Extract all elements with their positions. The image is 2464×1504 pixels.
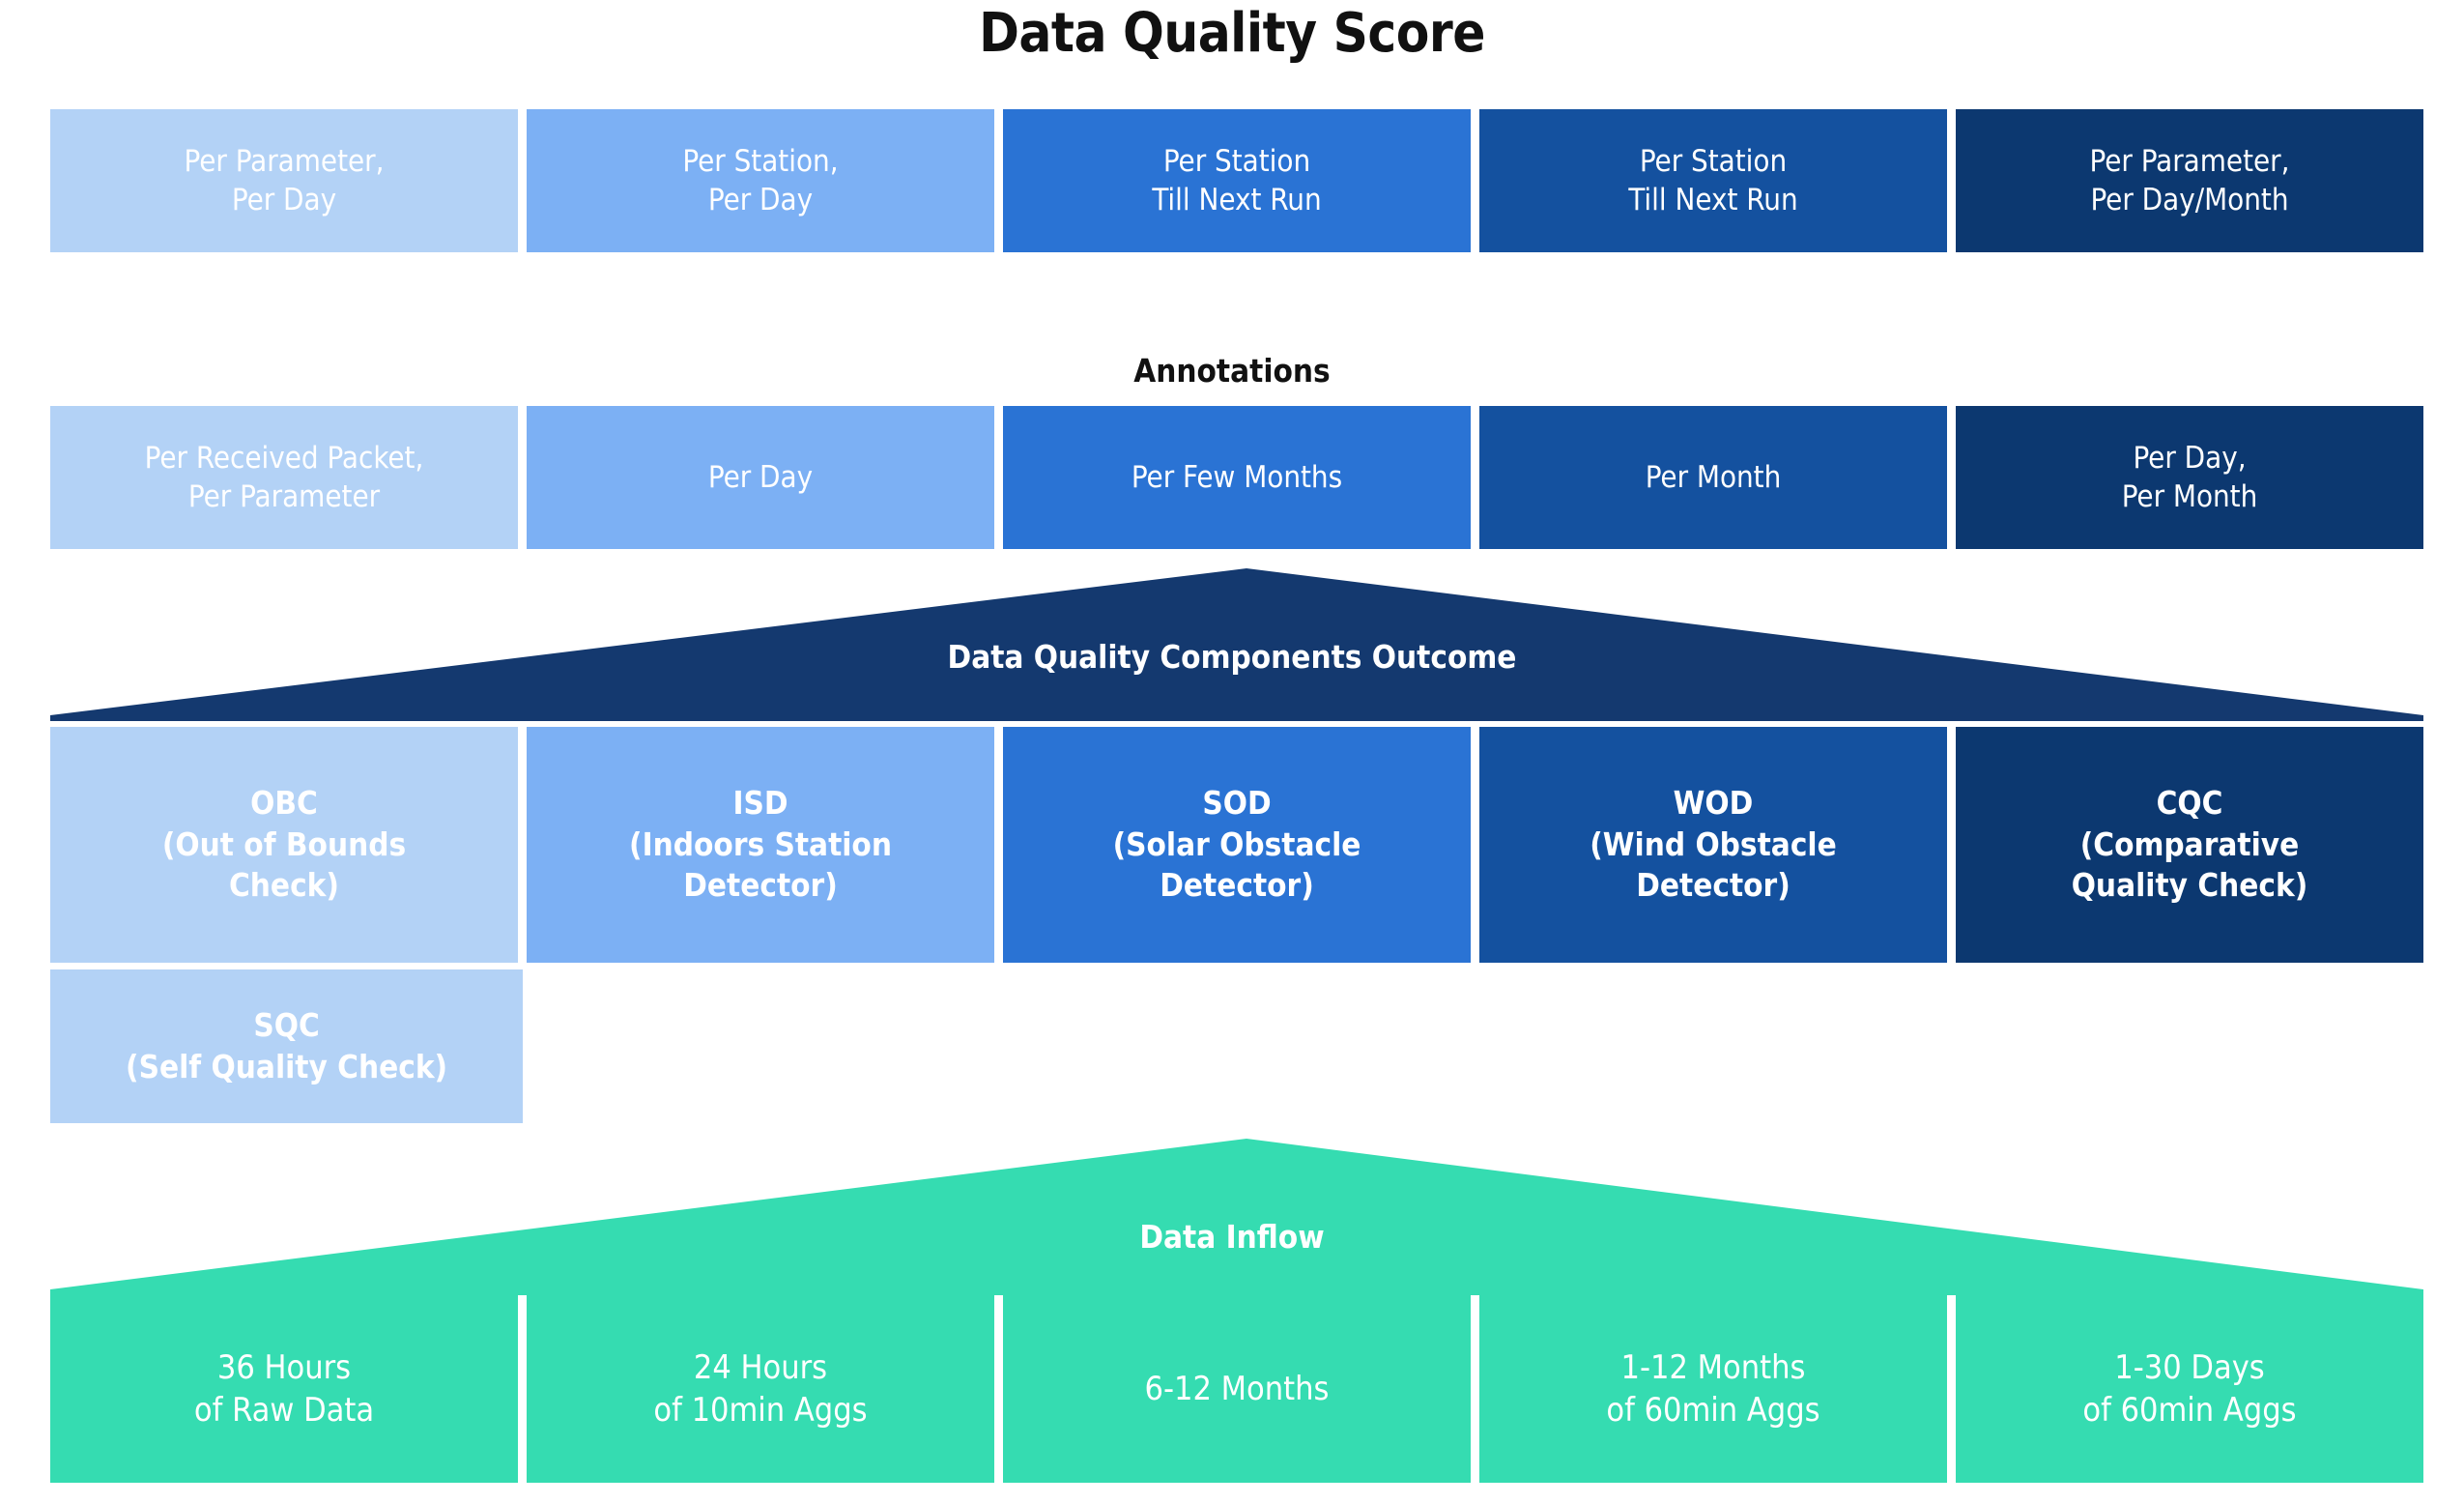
annotations-cell-5-line-1: Per Day, xyxy=(1956,439,2423,477)
annotations-cell-5[interactable]: Per Day, Per Month xyxy=(1956,406,2423,549)
component-sod-line-1: SOD xyxy=(1003,783,1471,824)
annotations-cell-1-line-1: Per Received Packet, xyxy=(50,439,518,477)
inflow-cell-2[interactable]: 24 Hours of 10min Aggs xyxy=(527,1295,994,1483)
inflow-cell-2-line-2: of 10min Aggs xyxy=(527,1389,994,1432)
score-cell-1-line-2: Per Day xyxy=(50,181,518,219)
score-cell-5[interactable]: Per Parameter, Per Day/Month xyxy=(1956,109,2423,252)
diagram-canvas: Data Quality Score Per Parameter, Per Da… xyxy=(0,0,2464,1504)
component-cell-cqc[interactable]: CQC (Comparative Quality Check) xyxy=(1956,727,2423,963)
annotations-cell-3[interactable]: Per Few Months xyxy=(1003,406,1471,549)
inflow-cell-4[interactable]: 1-12 Months of 60min Aggs xyxy=(1479,1295,1947,1483)
inflow-cell-3[interactable]: 6-12 Months xyxy=(1003,1295,1471,1483)
component-cell-wod[interactable]: WOD (Wind Obstacle Detector) xyxy=(1479,727,1947,963)
score-cell-3-line-1: Per Station xyxy=(1003,142,1471,181)
inflow-banner-label: Data Inflow xyxy=(0,1218,2464,1256)
score-cell-5-line-2: Per Day/Month xyxy=(1956,181,2423,219)
component-cqc-line-2: (Comparative xyxy=(1956,824,2423,866)
score-cell-3[interactable]: Per Station Till Next Run xyxy=(1003,109,1471,252)
component-obc-line-1: OBC xyxy=(50,783,518,824)
components-row: OBC (Out of Bounds Check) ISD (Indoors S… xyxy=(50,727,2423,963)
inflow-cell-5-line-1: 1-30 Days xyxy=(1956,1346,2423,1389)
page-title: Data Quality Score xyxy=(0,2,2464,65)
inflow-cell-1[interactable]: 36 Hours of Raw Data xyxy=(50,1295,518,1483)
annotations-cell-4[interactable]: Per Month xyxy=(1479,406,1947,549)
inflow-cell-1-line-2: of Raw Data xyxy=(50,1389,518,1432)
annotations-cell-5-line-2: Per Month xyxy=(1956,477,2423,516)
inflow-cell-4-line-1: 1-12 Months xyxy=(1479,1346,1947,1389)
component-wod-line-1: WOD xyxy=(1479,783,1947,824)
score-cell-5-line-1: Per Parameter, xyxy=(1956,142,2423,181)
component-cell-obc[interactable]: OBC (Out of Bounds Check) xyxy=(50,727,518,963)
annotations-cell-3-line-1: Per Few Months xyxy=(1003,458,1471,497)
component-sqc-line-1: SQC xyxy=(253,1005,319,1047)
annotations-cell-2[interactable]: Per Day xyxy=(527,406,994,549)
annotations-cell-2-line-1: Per Day xyxy=(527,458,994,497)
inflow-cell-5-line-2: of 60min Aggs xyxy=(1956,1389,2423,1432)
annotations-label: Annotations xyxy=(0,352,2464,390)
component-cell-sqc[interactable]: SQC (Self Quality Check) xyxy=(50,969,523,1123)
score-cell-2[interactable]: Per Station, Per Day xyxy=(527,109,994,252)
score-cell-4[interactable]: Per Station Till Next Run xyxy=(1479,109,1947,252)
annotations-cell-1-line-2: Per Parameter xyxy=(50,477,518,516)
inflow-cell-4-line-2: of 60min Aggs xyxy=(1479,1389,1947,1432)
component-sod-line-2: (Solar Obstacle xyxy=(1003,824,1471,866)
component-obc-line-3: Check) xyxy=(50,865,518,907)
component-cell-sod[interactable]: SOD (Solar Obstacle Detector) xyxy=(1003,727,1471,963)
score-cell-2-line-1: Per Station, xyxy=(527,142,994,181)
component-obc-line-2: (Out of Bounds xyxy=(50,824,518,866)
annotations-cell-4-line-1: Per Month xyxy=(1479,458,1947,497)
inflow-banner-triangle-icon xyxy=(0,1139,2464,1295)
annotations-cell-1[interactable]: Per Received Packet, Per Parameter xyxy=(50,406,518,549)
score-cell-1-line-1: Per Parameter, xyxy=(50,142,518,181)
component-isd-line-3: Detector) xyxy=(527,865,994,907)
score-cell-4-line-2: Till Next Run xyxy=(1479,181,1947,219)
component-sqc-line-2: (Self Quality Check) xyxy=(126,1047,447,1088)
inflow-cell-1-line-1: 36 Hours xyxy=(50,1346,518,1389)
score-cell-1[interactable]: Per Parameter, Per Day xyxy=(50,109,518,252)
inflow-cell-3-line-1: 6-12 Months xyxy=(1003,1368,1471,1410)
component-wod-line-3: Detector) xyxy=(1479,865,1947,907)
annotations-row: Per Received Packet, Per Parameter Per D… xyxy=(50,406,2423,549)
inflow-cell-5[interactable]: 1-30 Days of 60min Aggs xyxy=(1956,1295,2423,1483)
components-banner-label: Data Quality Components Outcome xyxy=(0,638,2464,676)
component-cqc-line-1: CQC xyxy=(1956,783,2423,824)
component-sod-line-3: Detector) xyxy=(1003,865,1471,907)
score-granularity-row: Per Parameter, Per Day Per Station, Per … xyxy=(50,109,2423,252)
data-inflow-banner: Data Inflow xyxy=(0,1139,2464,1295)
inflow-cell-2-line-1: 24 Hours xyxy=(527,1346,994,1389)
score-cell-2-line-2: Per Day xyxy=(527,181,994,219)
component-isd-line-1: ISD xyxy=(527,783,994,824)
score-cell-4-line-1: Per Station xyxy=(1479,142,1947,181)
score-cell-3-line-2: Till Next Run xyxy=(1003,181,1471,219)
component-wod-line-2: (Wind Obstacle xyxy=(1479,824,1947,866)
components-outcome-banner: Data Quality Components Outcome xyxy=(0,568,2464,721)
component-isd-line-2: (Indoors Station xyxy=(527,824,994,866)
inflow-row: 36 Hours of Raw Data 24 Hours of 10min A… xyxy=(50,1295,2423,1483)
component-cell-isd[interactable]: ISD (Indoors Station Detector) xyxy=(527,727,994,963)
component-cqc-line-3: Quality Check) xyxy=(1956,865,2423,907)
